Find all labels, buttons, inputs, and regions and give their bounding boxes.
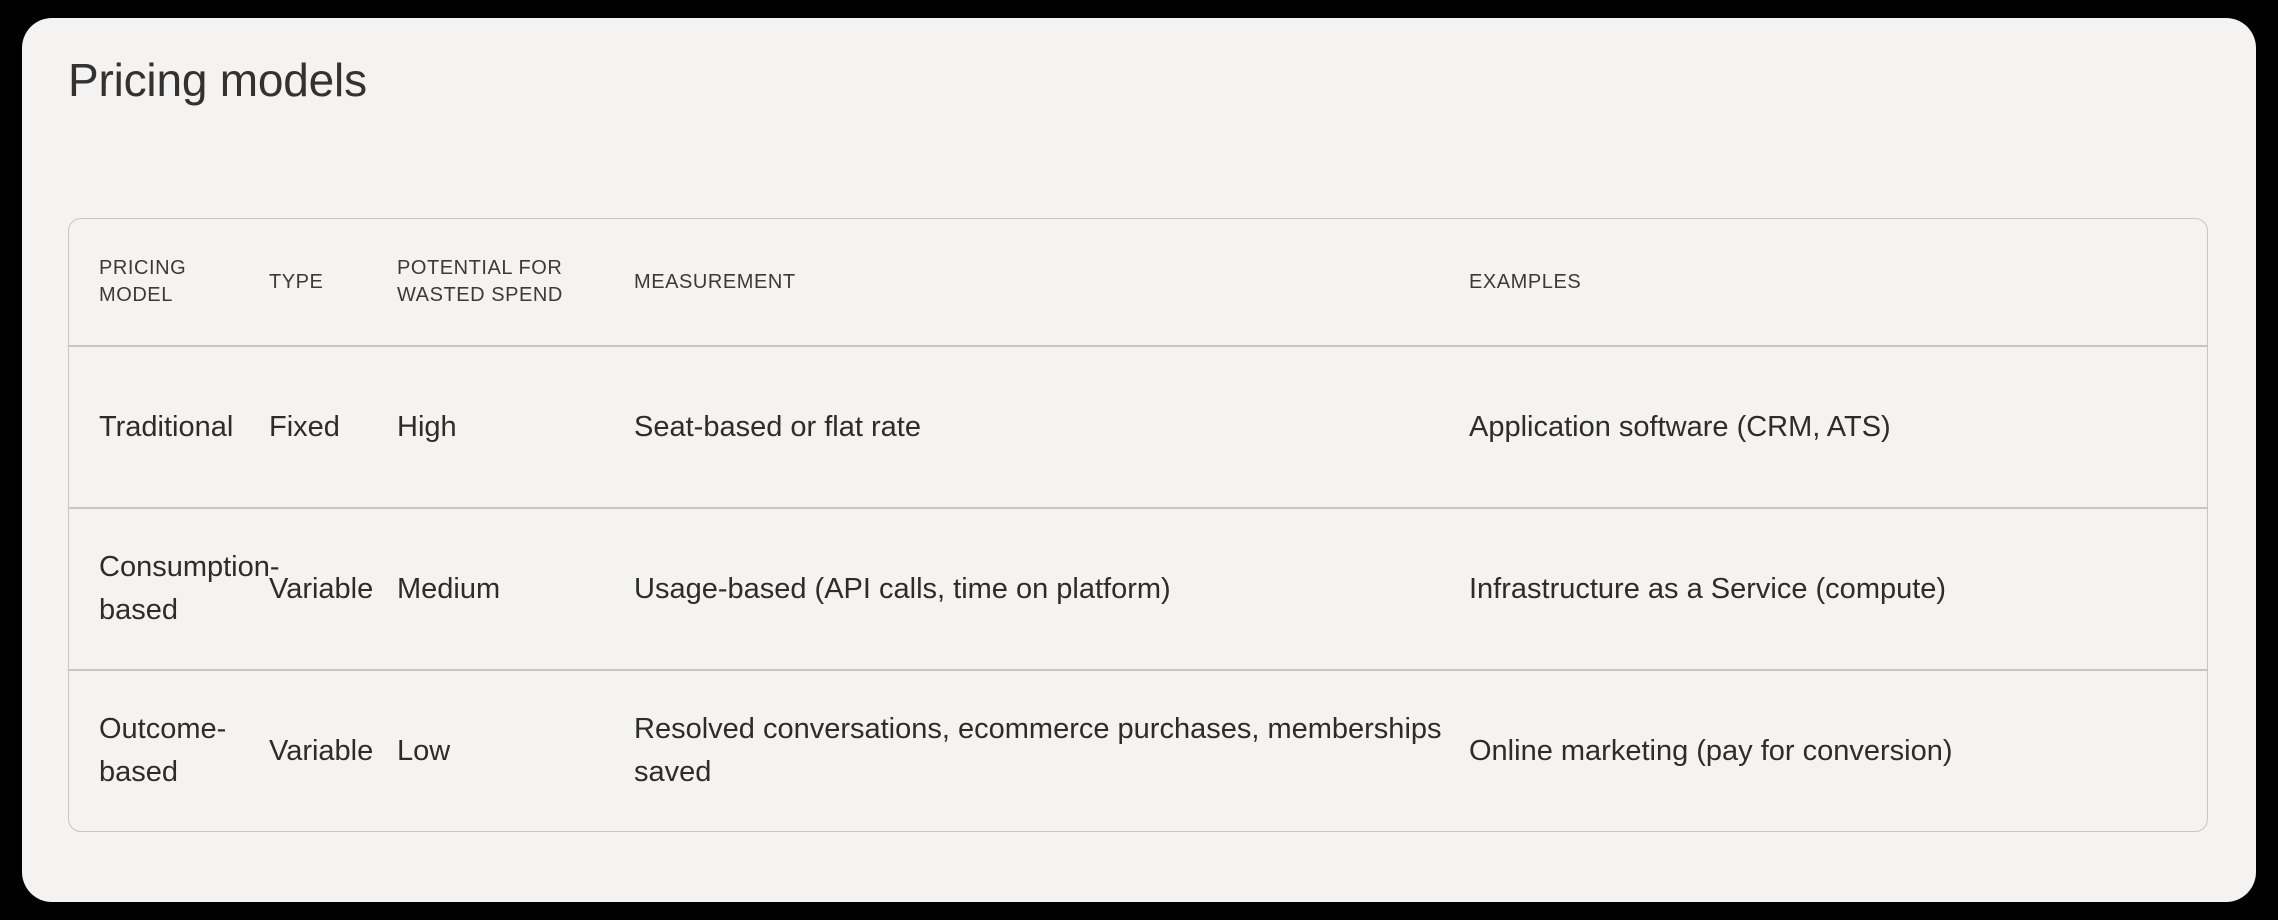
- column-header-wasted-spend-line2: WASTED SPEND: [397, 282, 608, 309]
- column-header-pricing-model-label: PRICING MODEL: [99, 255, 243, 309]
- pricing-models-table: PRICING MODEL TYPE POTENTIAL FOR WASTED …: [68, 218, 2208, 832]
- cell-type: Variable: [269, 568, 397, 611]
- column-header-examples: EXAMPLES: [1469, 269, 2169, 296]
- table-row: Traditional Fixed High Seat-based or fla…: [69, 345, 2207, 507]
- cell-measurement: Usage-based (API calls, time on platform…: [634, 568, 1469, 611]
- table-row: Consumption-based Variable Medium Usage-…: [69, 507, 2207, 669]
- column-header-type-label: TYPE: [269, 269, 371, 296]
- cell-examples: Infrastructure as a Service (compute): [1469, 568, 2169, 611]
- column-header-pricing-model: PRICING MODEL: [69, 255, 269, 309]
- cell-potential-for-wasted-spend: Medium: [397, 568, 634, 611]
- cell-measurement: Seat-based or flat rate: [634, 406, 1469, 449]
- column-header-potential-for-wasted-spend: POTENTIAL FOR WASTED SPEND: [397, 255, 634, 309]
- cell-potential-for-wasted-spend: High: [397, 406, 634, 449]
- table-row: Outcome-based Variable Low Resolved conv…: [69, 669, 2207, 831]
- content-card: Pricing models PRICING MODEL TYPE POTENT…: [22, 18, 2256, 902]
- cell-pricing-model: Outcome-based: [69, 708, 269, 794]
- cell-pricing-model: Consumption-based: [69, 546, 269, 632]
- cell-type: Variable: [269, 730, 397, 773]
- cell-measurement: Resolved conversations, ecommerce purcha…: [634, 708, 1469, 794]
- cell-examples: Online marketing (pay for conversion): [1469, 730, 2169, 773]
- cell-examples: Application software (CRM, ATS): [1469, 406, 2169, 449]
- column-header-examples-label: EXAMPLES: [1469, 269, 2143, 296]
- column-header-measurement: MEASUREMENT: [634, 269, 1469, 296]
- column-header-type: TYPE: [269, 269, 397, 296]
- column-header-wasted-spend-line1: POTENTIAL FOR: [397, 255, 608, 282]
- cell-pricing-model: Traditional: [69, 406, 269, 449]
- page-title: Pricing models: [68, 52, 367, 108]
- cell-potential-for-wasted-spend: Low: [397, 730, 634, 773]
- table-header-row: PRICING MODEL TYPE POTENTIAL FOR WASTED …: [69, 219, 2207, 345]
- cell-type: Fixed: [269, 406, 397, 449]
- column-header-measurement-label: MEASUREMENT: [634, 269, 1443, 296]
